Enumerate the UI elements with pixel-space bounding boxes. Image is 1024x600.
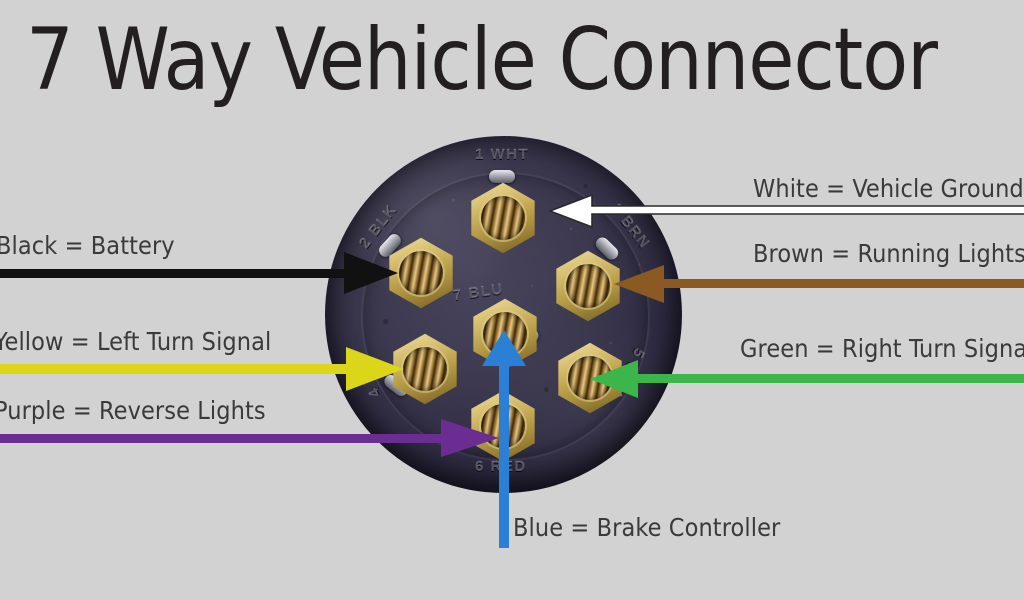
callout-label-green: Green = Right Turn Signal [740,334,1024,364]
page-title: 7 Way Vehicle Connector [26,8,1006,113]
diagram-canvas: 7 Way Vehicle Connector 1 WHT 2 BLK 3 BR… [0,0,1024,600]
callout-label-yellow: Yellow = Left Turn Signal [0,327,271,357]
callout-label-blue: Blue = Brake Controller [513,513,780,543]
callout-label-white: White = Vehicle Ground [753,174,1024,204]
terminal-1-white [467,182,539,254]
callout-label-purple: Purple = Reverse Lights [0,396,266,426]
callout-label-black: Black = Battery [0,231,175,261]
terminal-1-lug [489,170,515,183]
callout-label-brown: Brown = Running Lights [753,239,1024,269]
callout-arrow-green [588,358,1024,400]
